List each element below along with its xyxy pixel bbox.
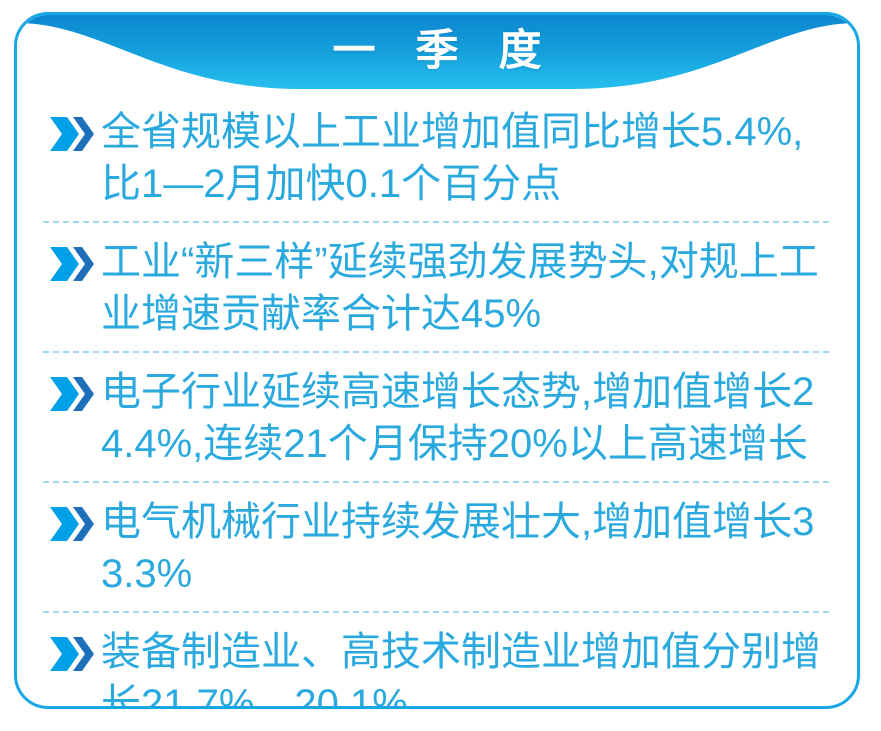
double-chevron-icon — [43, 496, 101, 543]
list-item-text: 装备制造业、高技术制造业增加值分别增长21.7%、20.1% — [101, 626, 829, 709]
double-chevron-glyph — [48, 245, 96, 283]
header-wave-banner: 一 季 度 — [17, 15, 857, 93]
list-item: 工业“新三样”延续强劲发展势头,对规上工业增速贡献率合计达45% — [43, 223, 829, 353]
double-chevron-icon — [43, 106, 101, 153]
double-chevron-icon — [43, 236, 101, 283]
double-chevron-glyph — [48, 115, 96, 153]
infographic-card: 一 季 度 全省规模以上工业增加值同比增长5.4%,比1—2月加快0.1个百分点… — [14, 12, 860, 709]
double-chevron-glyph — [48, 635, 96, 673]
double-chevron-icon — [43, 366, 101, 413]
list-item: 电气机械行业持续发展壮大,增加值增长33.3% — [43, 483, 829, 613]
list-item: 电子行业延续高速增长态势,增加值增长24.4%,连续21个月保持20%以上高速增… — [43, 353, 829, 483]
list-item-text: 电气机械行业持续发展壮大,增加值增长33.3% — [101, 496, 829, 600]
statistics-list: 全省规模以上工业增加值同比增长5.4%,比1—2月加快0.1个百分点 工业“新三… — [17, 93, 857, 706]
list-item-text: 工业“新三样”延续强劲发展势头,对规上工业增速贡献率合计达45% — [101, 236, 829, 340]
double-chevron-glyph — [48, 505, 96, 543]
list-item-text: 电子行业延续高速增长态势,增加值增长24.4%,连续21个月保持20%以上高速增… — [101, 366, 829, 470]
list-item-text: 全省规模以上工业增加值同比增长5.4%,比1—2月加快0.1个百分点 — [101, 106, 829, 210]
wave-shape — [17, 15, 857, 93]
list-item: 装备制造业、高技术制造业增加值分别增长21.7%、20.1% — [43, 613, 829, 709]
list-item: 全省规模以上工业增加值同比增长5.4%,比1—2月加快0.1个百分点 — [43, 93, 829, 223]
double-chevron-glyph — [48, 375, 96, 413]
double-chevron-icon — [43, 626, 101, 673]
